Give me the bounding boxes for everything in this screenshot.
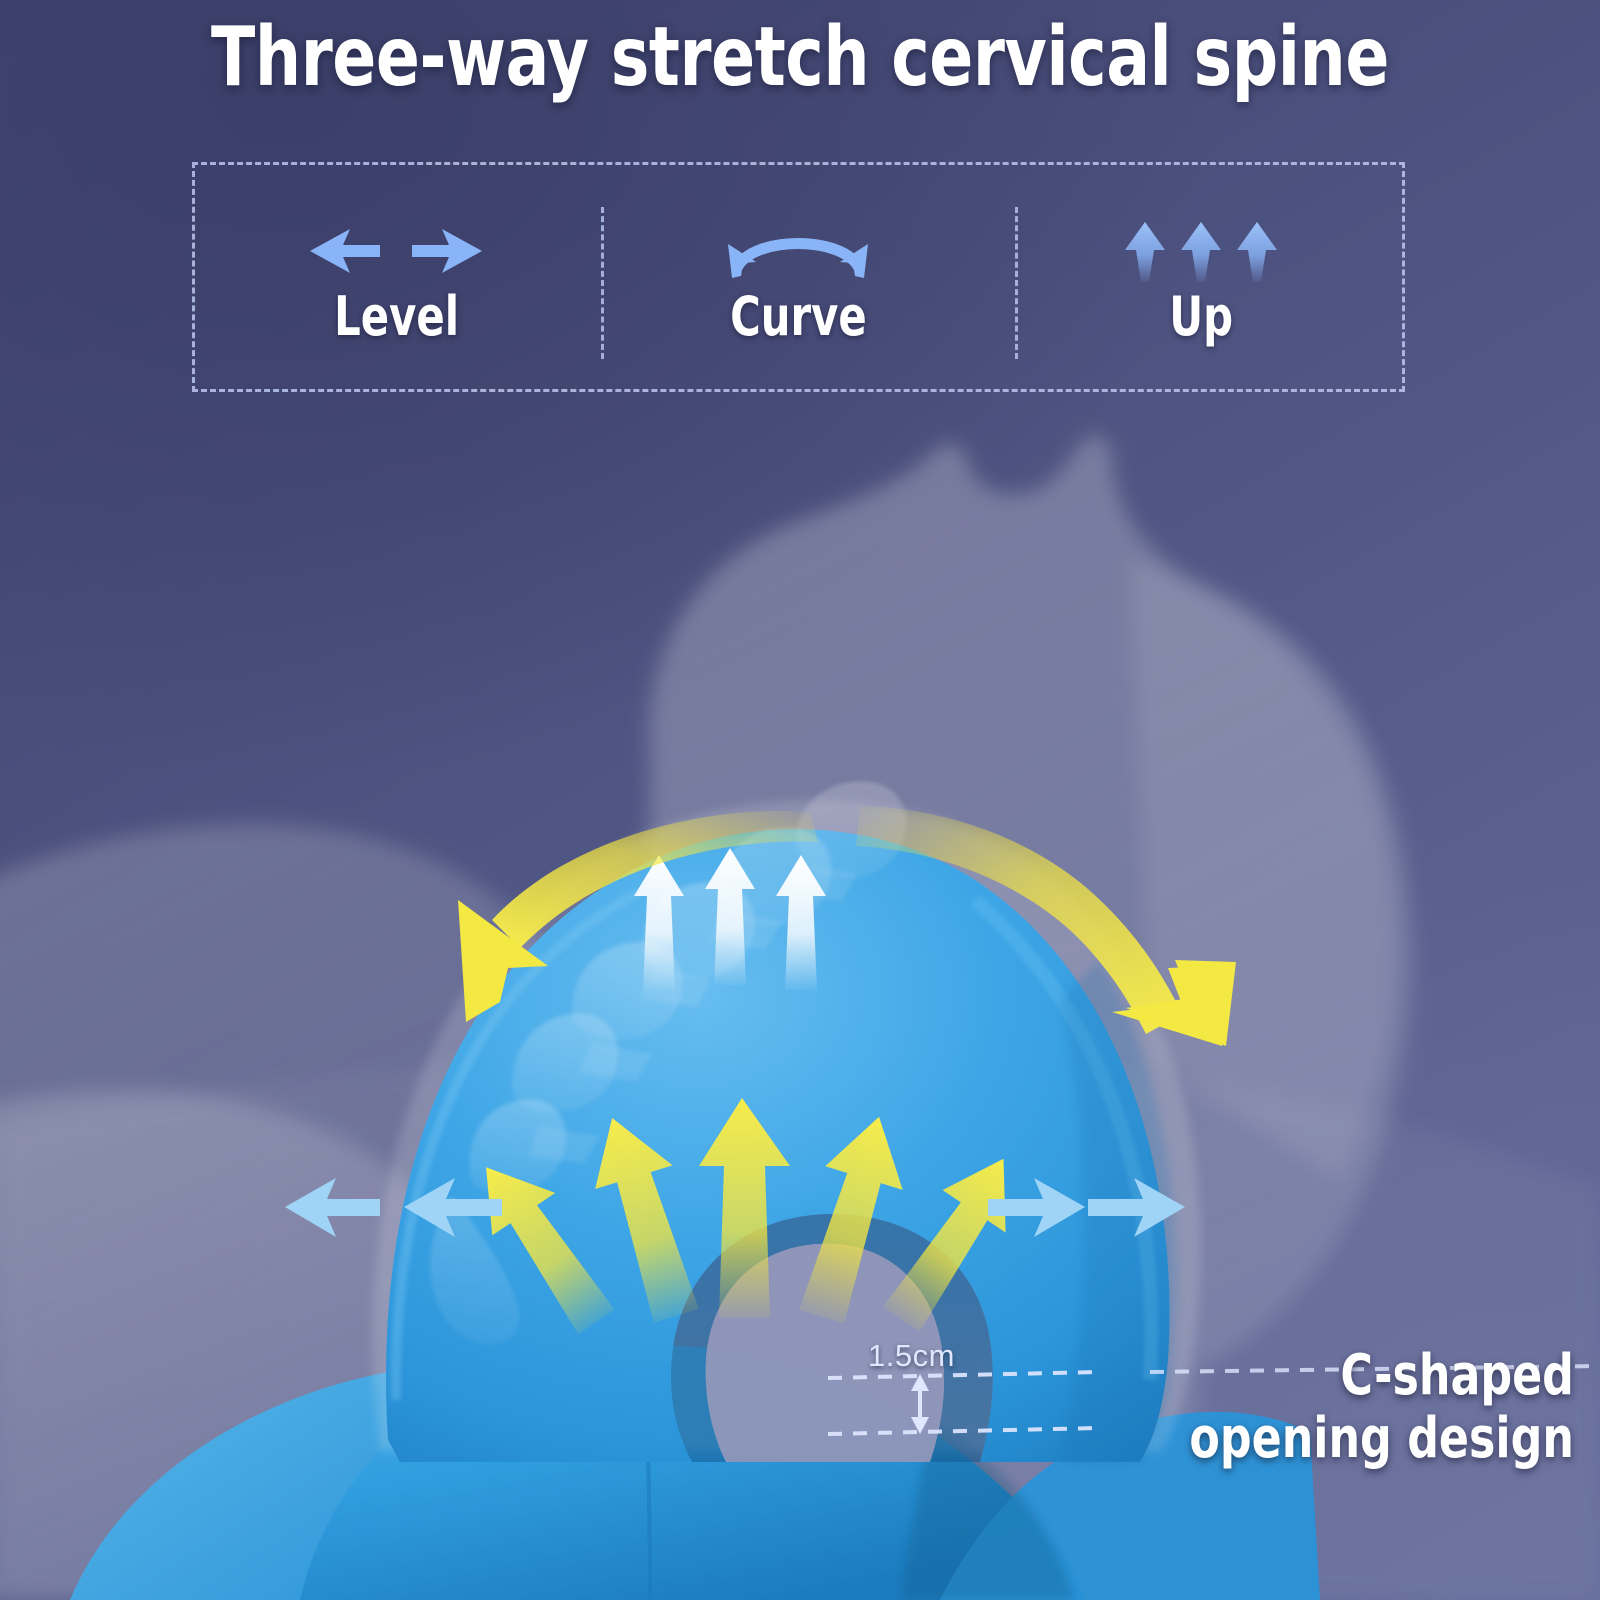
triple-up-arrow-icon	[1111, 218, 1291, 284]
c-shaped-line-1: C-shaped	[1190, 1345, 1574, 1408]
feature-label-up: Up	[1169, 290, 1233, 344]
feature-label-level: Level	[334, 290, 459, 344]
double-arc-arrow-icon	[708, 218, 888, 284]
double-horizontal-arrow-icon	[306, 218, 486, 284]
measurement-label: 1.5cm	[868, 1338, 955, 1374]
c-shaped-line-2: opening design	[1190, 1408, 1574, 1471]
c-shaped-design-callout: C-shaped opening design	[1190, 1345, 1574, 1470]
feature-item-level[interactable]: Level	[195, 165, 597, 389]
feature-item-up[interactable]: Up	[1000, 165, 1402, 389]
feature-box: Level Curve	[192, 162, 1405, 392]
feature-item-curve[interactable]: Curve	[597, 165, 999, 389]
white-up-arrows	[634, 848, 826, 990]
infographic-page: Three-way stretch cervical spine Level	[0, 0, 1600, 1600]
feature-label-curve: Curve	[730, 290, 867, 344]
page-title: Three-way stretch cervical spine	[96, 16, 1504, 100]
